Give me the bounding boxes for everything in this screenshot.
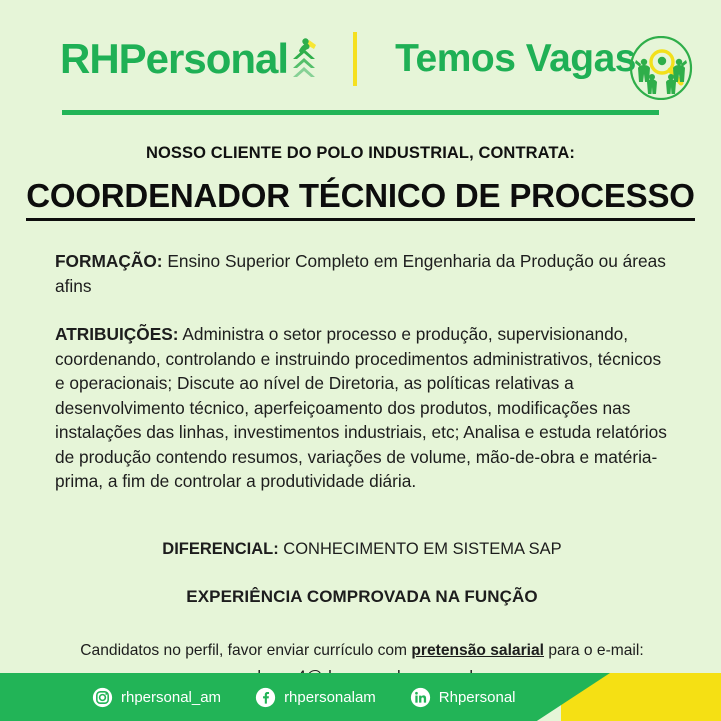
atribuicoes-paragraph: ATRIBUIÇÕES: Administra o setor processo… xyxy=(55,322,669,494)
body-content: FORMAÇÃO: Ensino Superior Completo em En… xyxy=(0,249,721,690)
vertical-divider xyxy=(353,32,357,86)
social-links: rhpersonal_am rhpersonalam xyxy=(0,673,516,721)
diferencial-text: CONHECIMENTO EM SISTEMA SAP xyxy=(279,540,562,558)
atribuicoes-text: Administra o setor processo e produção, … xyxy=(55,324,667,491)
lead-line: NOSSO CLIENTE DO POLO INDUSTRIAL, CONTRA… xyxy=(0,144,721,163)
contact-emphasis: pretensão salarial xyxy=(411,642,544,659)
header-divider-rule xyxy=(62,110,659,115)
person-chevron-logo-icon xyxy=(289,36,319,82)
job-title-text: COORDENADOR TÉCNICO DE PROCESSO xyxy=(26,177,695,221)
social-facebook[interactable]: rhpersonalam xyxy=(255,687,376,708)
contact-prefix: Candidatos no perfil, favor enviar currí… xyxy=(80,642,411,659)
social-linkedin[interactable]: Rhpersonal xyxy=(410,687,516,708)
brand-name: RHPersonal xyxy=(60,38,288,80)
diferencial-label: DIFERENCIAL: xyxy=(162,540,278,558)
footer: rhpersonal_am rhpersonalam xyxy=(0,673,721,721)
experiencia-line: EXPERIÊNCIA COMPROVADA NA FUNÇÃO xyxy=(55,587,669,607)
tagline: Temos Vagas xyxy=(395,37,636,81)
page-title: COORDENADOR TÉCNICO DE PROCESSO xyxy=(0,177,721,221)
formacao-paragraph: FORMAÇÃO: Ensino Superior Completo em En… xyxy=(55,249,669,298)
social-handle: rhpersonalam xyxy=(284,689,376,706)
facebook-icon xyxy=(255,687,276,708)
atribuicoes-label: ATRIBUIÇÕES: xyxy=(55,324,179,344)
linkedin-icon xyxy=(410,687,431,708)
header: RHPersonal Temos Vagas xyxy=(0,0,721,118)
instagram-icon xyxy=(92,687,113,708)
social-instagram[interactable]: rhpersonal_am xyxy=(92,687,221,708)
job-posting-poster: RHPersonal Temos Vagas xyxy=(0,0,721,721)
brand-lockup: RHPersonal xyxy=(60,36,319,82)
diferencial-line: DIFERENCIAL: CONHECIMENTO EM SISTEMA SAP xyxy=(55,540,669,559)
contact-suffix: para o e-mail: xyxy=(544,642,644,659)
social-handle: rhpersonal_am xyxy=(121,689,221,706)
formacao-label: FORMAÇÃO: xyxy=(55,251,163,271)
people-magnifier-circle-logo-icon xyxy=(629,36,693,100)
social-handle: Rhpersonal xyxy=(439,689,516,706)
